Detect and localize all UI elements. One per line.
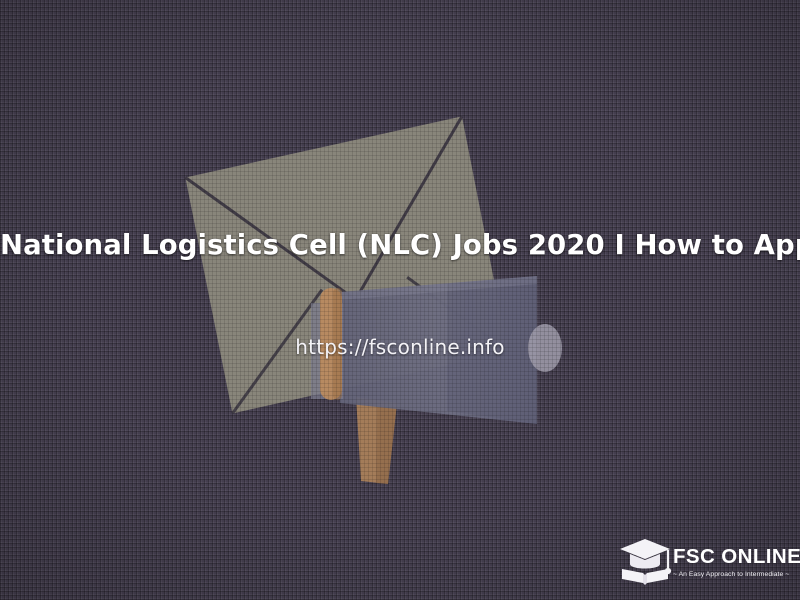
- site-url-text: https://fsconline.info: [0, 335, 800, 359]
- logo-text-block: FSC ONLINE ~ An Easy Approach to Interme…: [673, 542, 800, 580]
- logo-name: FSC ONLINE: [673, 546, 800, 567]
- page-title: National Logistics Cell (NLC) Jobs 2020 …: [0, 228, 800, 262]
- graduation-cap-book-icon: [618, 535, 672, 587]
- brand-logo: FSC ONLINE ~ An Easy Approach to Interme…: [618, 532, 790, 590]
- artwork-illustration: [0, 0, 800, 600]
- featured-image-canvas: National Logistics Cell (NLC) Jobs 2020 …: [0, 0, 800, 600]
- logo-tagline: ~ An Easy Approach to Intermediate ~: [673, 570, 800, 580]
